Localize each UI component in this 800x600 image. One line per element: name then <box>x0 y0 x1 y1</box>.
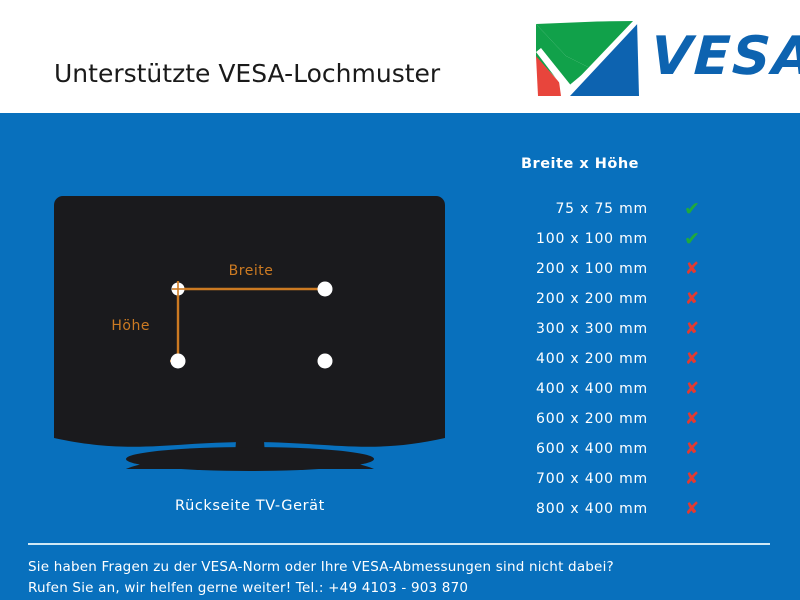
cross-icon: ✘ <box>648 351 722 368</box>
vesa-wordmark: VESA <box>649 27 800 87</box>
height-label: Höhe <box>111 318 150 334</box>
spec-size-label: 200 x 100 mm <box>498 261 648 277</box>
vesa-logo: VESA <box>533 18 785 98</box>
table-row: 800 x 400 mm ✘ <box>498 494 728 524</box>
check-icon: ✔ <box>648 200 722 219</box>
spec-size-label: 75 x 75 mm <box>498 201 648 217</box>
table-row: 400 x 200 mm ✘ <box>498 344 728 374</box>
cross-icon: ✘ <box>648 411 722 428</box>
cross-icon: ✘ <box>648 381 722 398</box>
spec-size-label: 800 x 400 mm <box>498 501 648 517</box>
specs-table-header: Breite x Höhe <box>498 156 728 172</box>
cross-icon: ✘ <box>648 471 722 488</box>
cross-icon: ✘ <box>648 501 722 518</box>
spec-size-label: 400 x 200 mm <box>498 351 648 367</box>
width-label: Breite <box>229 263 274 279</box>
tv-diagram-svg: Breite Höhe <box>40 193 460 493</box>
cross-icon: ✘ <box>648 441 722 458</box>
footer-divider <box>28 543 770 545</box>
spec-size-label: 600 x 400 mm <box>498 441 648 457</box>
cross-icon: ✘ <box>648 261 722 278</box>
tv-stand-base-ellipse <box>126 447 374 471</box>
supported-patterns-table: Breite x Höhe 75 x 75 mm ✔ 100 x 100 mm … <box>498 156 728 524</box>
table-row: 400 x 400 mm ✘ <box>498 374 728 404</box>
footer-line-1: Sie haben Fragen zu der VESA-Norm oder I… <box>28 557 778 578</box>
spec-size-label: 200 x 200 mm <box>498 291 648 307</box>
spec-size-label: 100 x 100 mm <box>498 231 648 247</box>
footer-line-2: Rufen Sie an, wir helfen gerne weiter! T… <box>28 578 778 599</box>
tv-diagram-caption: Rückseite TV-Gerät <box>40 498 460 514</box>
vesa-logo-mark <box>533 18 640 98</box>
spec-size-label: 600 x 200 mm <box>498 411 648 427</box>
vesa-info-page: Unterstützte VESA-Lochmuster VESA <box>0 0 800 600</box>
cross-icon: ✘ <box>648 291 722 308</box>
table-row: 200 x 200 mm ✘ <box>498 284 728 314</box>
spec-size-label: 400 x 400 mm <box>498 381 648 397</box>
spec-size-label: 700 x 400 mm <box>498 471 648 487</box>
page-title: Unterstützte VESA-Lochmuster <box>54 59 440 88</box>
mount-hole-top-right <box>318 282 333 297</box>
tv-diagram: Breite Höhe Rückseite TV-Gerät <box>40 193 460 533</box>
cross-icon: ✘ <box>648 321 722 338</box>
table-row: 75 x 75 mm ✔ <box>498 194 728 224</box>
table-row: 600 x 400 mm ✘ <box>498 434 728 464</box>
table-row: 700 x 400 mm ✘ <box>498 464 728 494</box>
mount-hole-bottom-right <box>318 354 333 369</box>
table-row: 100 x 100 mm ✔ <box>498 224 728 254</box>
footer-contact-text: Sie haben Fragen zu der VESA-Norm oder I… <box>28 557 778 599</box>
spec-size-label: 300 x 300 mm <box>498 321 648 337</box>
table-row: 600 x 200 mm ✘ <box>498 404 728 434</box>
page-header: Unterstützte VESA-Lochmuster VESA <box>0 0 800 113</box>
table-row: 300 x 300 mm ✘ <box>498 314 728 344</box>
mount-hole-bottom-left <box>171 354 186 369</box>
check-icon: ✔ <box>648 230 722 249</box>
table-row: 200 x 100 mm ✘ <box>498 254 728 284</box>
main-panel: Breite Höhe Rückseite TV-Gerät Breite x … <box>0 113 800 600</box>
